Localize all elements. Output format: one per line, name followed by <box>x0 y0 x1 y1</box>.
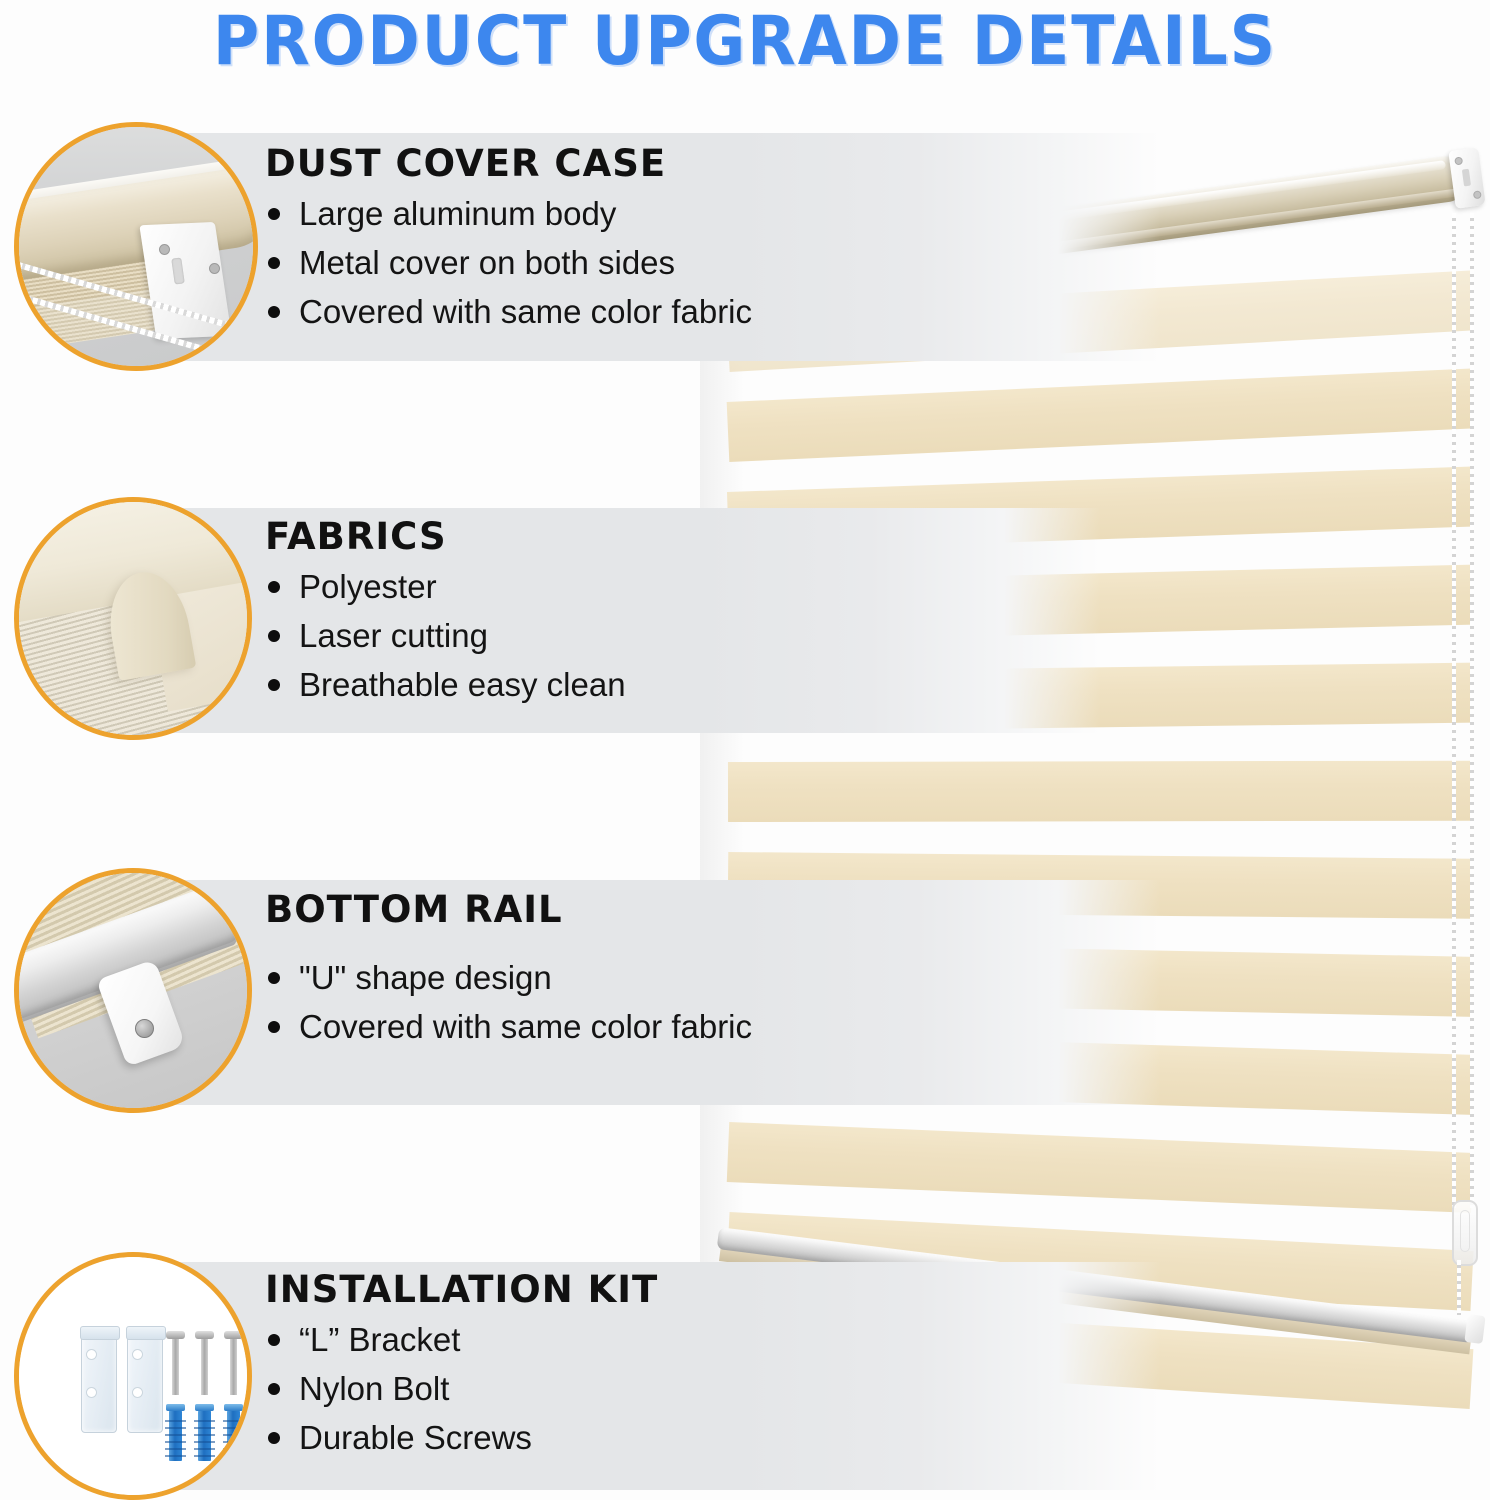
bullet-dot-icon <box>268 1383 280 1395</box>
bullet-dot-icon <box>268 208 280 220</box>
list-item: Durable Screws <box>265 1413 658 1462</box>
bullet-dot-icon <box>268 1432 280 1444</box>
list-item: Covered with same color fabric <box>265 287 752 336</box>
page-title: PRODUCT UPGRADE DETAILS <box>52 2 1438 81</box>
list-item: “L” Bracket <box>265 1315 658 1364</box>
headrail-end-cap <box>1448 147 1485 208</box>
list-item: "U" shape design <box>265 953 752 1002</box>
feature-text: DUST COVER CASE Large aluminum body Meta… <box>265 142 752 336</box>
feature-heading: INSTALLATION KIT <box>265 1268 658 1311</box>
bullet-dot-icon <box>268 1021 280 1033</box>
zebra-striped-fabric <box>728 320 1473 1380</box>
feature-bullet-list: “L” Bracket Nylon Bolt Durable Screws <box>265 1315 658 1462</box>
bullet-text: Nylon Bolt <box>299 1370 449 1407</box>
dust-cover-photo <box>19 127 253 366</box>
feature-text: FABRICS Polyester Laser cutting Breathab… <box>265 515 626 709</box>
infographic-page: PRODUCT UPGRADE DETAILS DUST COVER CASE <box>0 0 1490 1500</box>
wall-anchor-icon <box>169 1409 182 1461</box>
bullet-text: Metal cover on both sides <box>299 244 675 281</box>
bead-chain-tail <box>1457 1260 1461 1315</box>
screw-icon <box>172 1337 179 1395</box>
feature-heading: FABRICS <box>265 515 626 558</box>
bullet-dot-icon <box>268 972 280 984</box>
list-item: Nylon Bolt <box>265 1364 658 1413</box>
bottom-rail-photo <box>19 873 247 1108</box>
feature-text: BOTTOM RAIL "U" shape design Covered wit… <box>265 888 752 1051</box>
bullet-dot-icon <box>268 581 280 593</box>
bead-chain-back <box>1470 213 1474 1208</box>
bullet-dot-icon <box>268 630 280 642</box>
bullet-text: Covered with same color fabric <box>299 1008 752 1045</box>
feature-heading: DUST COVER CASE <box>265 142 752 185</box>
fabric-stripe <box>727 368 1474 461</box>
bullet-dot-icon <box>268 257 280 269</box>
list-item: Polyester <box>265 562 626 611</box>
bullet-text: Durable Screws <box>299 1419 532 1456</box>
end-cap-hook-icon <box>1462 169 1471 187</box>
bead-chain-front <box>1452 213 1456 1208</box>
bullet-dot-icon <box>268 679 280 691</box>
feature-bullet-list: "U" shape design Covered with same color… <box>265 953 752 1051</box>
bullet-text: Breathable easy clean <box>299 666 626 703</box>
list-item: Breathable easy clean <box>265 660 626 709</box>
dust-cover-photo-circle <box>14 122 258 371</box>
bullet-dot-icon <box>268 306 280 318</box>
bullet-text: Polyester <box>299 568 437 605</box>
fabric-stripe <box>728 761 1473 822</box>
end-cap-screw <box>1455 158 1462 165</box>
installation-kit-photo-circle <box>14 1252 252 1500</box>
bullet-text: Large aluminum body <box>299 195 616 232</box>
list-item: Laser cutting <box>265 611 626 660</box>
bullet-text: "U" shape design <box>299 959 552 996</box>
screw-icon <box>201 1337 208 1395</box>
list-item: Large aluminum body <box>265 189 752 238</box>
end-cap-screw <box>1474 191 1481 198</box>
l-bracket-icon <box>81 1333 117 1433</box>
wall-anchor-icon <box>198 1409 211 1461</box>
bullet-text: Laser cutting <box>299 617 488 654</box>
product-image-zebra-blind <box>700 225 1490 1335</box>
l-bracket-icon <box>127 1333 163 1433</box>
feature-heading: BOTTOM RAIL <box>265 888 752 931</box>
bullet-text: Covered with same color fabric <box>299 293 752 330</box>
chain-connector <box>1452 1200 1478 1266</box>
list-item: Metal cover on both sides <box>265 238 752 287</box>
fabric-photo <box>19 502 247 735</box>
feature-bullet-list: Large aluminum body Metal cover on both … <box>265 189 752 336</box>
bullet-text: “L” Bracket <box>299 1321 460 1358</box>
bottom-rail-end-cap <box>1464 1314 1485 1344</box>
feature-text: INSTALLATION KIT “L” Bracket Nylon Bolt … <box>265 1268 658 1462</box>
fabric-photo-circle <box>14 497 252 740</box>
list-item: Covered with same color fabric <box>265 1002 752 1051</box>
wall-anchor-icon <box>227 1409 240 1461</box>
screw-icon <box>230 1337 237 1395</box>
bottom-rail-photo-circle <box>14 868 252 1113</box>
fabric-stripe <box>727 1122 1474 1213</box>
bullet-dot-icon <box>268 1334 280 1346</box>
installation-kit-photo <box>19 1257 247 1495</box>
feature-bullet-list: Polyester Laser cutting Breathable easy … <box>265 562 626 709</box>
